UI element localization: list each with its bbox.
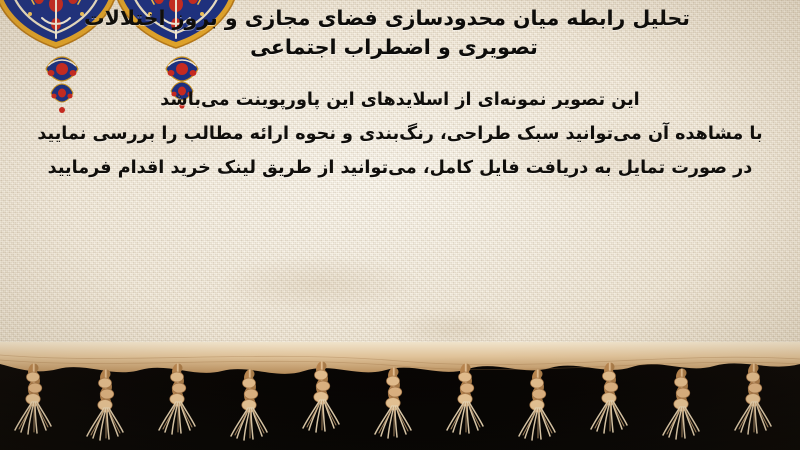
fringe-tassels <box>0 342 800 450</box>
carpet-fringe <box>0 342 800 450</box>
slide-body: این تصویر نمونه‌ای از اسلایدهای این پاور… <box>14 84 786 185</box>
tassel-row <box>15 366 771 440</box>
title-line-1: تحلیل رابطه میان محدودسازی فضای مجازی و … <box>14 4 786 33</box>
body-line-3: در صورت تمایل به دریافت فایل کامل، می‌تو… <box>14 152 786 186</box>
slide-title: تحلیل رابطه میان محدودسازی فضای مجازی و … <box>14 4 786 62</box>
slide-canvas: تحلیل رابطه میان محدودسازی فضای مجازی و … <box>0 0 800 450</box>
body-line-2: با مشاهده آن می‌توانید سبک طراحی، رنگ‌بن… <box>14 118 786 152</box>
slide-text-block: تحلیل رابطه میان محدودسازی فضای مجازی و … <box>0 0 800 186</box>
title-line-2: تصویری و اضطراب اجتماعی <box>14 33 786 62</box>
body-line-1: این تصویر نمونه‌ای از اسلایدهای این پاور… <box>14 84 786 118</box>
